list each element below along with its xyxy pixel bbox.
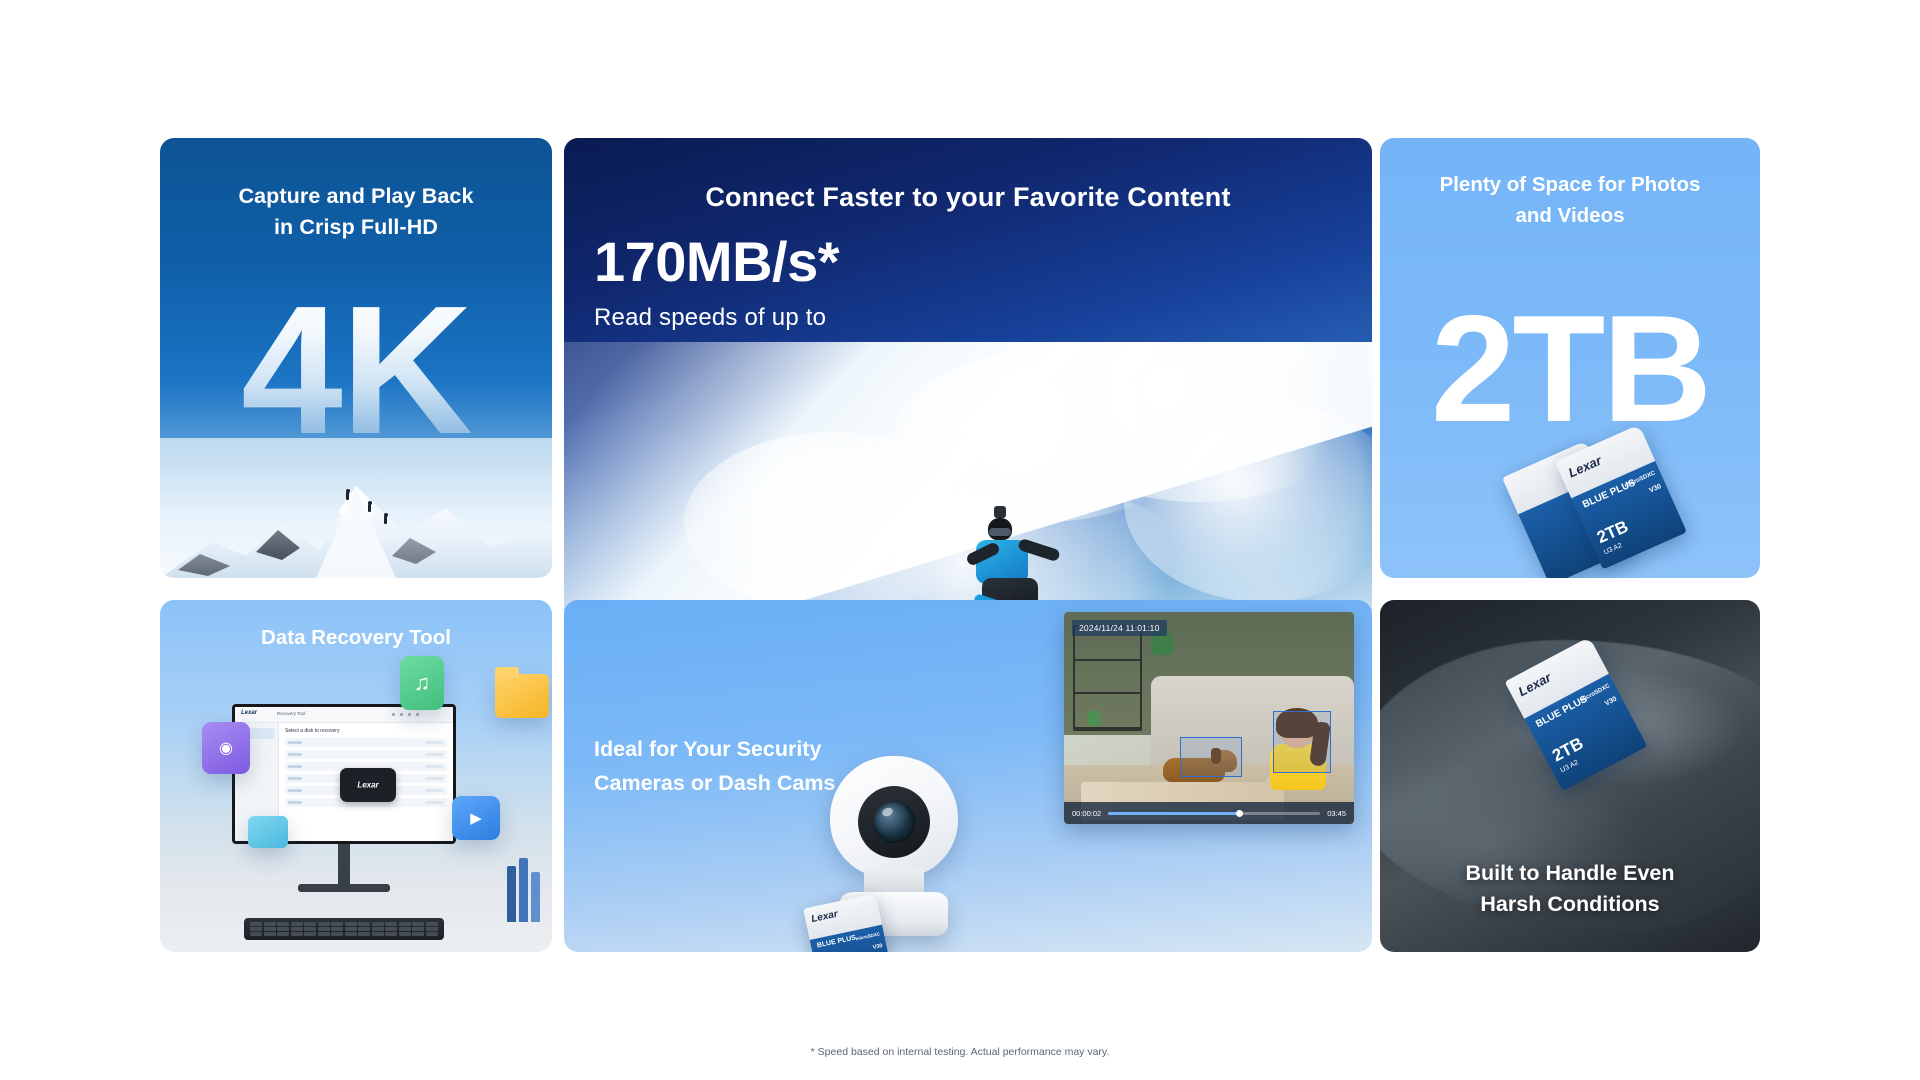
app-name-label: Recovery Tool bbox=[277, 711, 305, 716]
card-security-headline-line1: Ideal for Your Security bbox=[594, 732, 835, 766]
feed-timestamp: 2024/11/24 11:01:10 bbox=[1072, 620, 1167, 636]
card-harsh-conditions[interactable]: Lexar BLUE PLUS 2TB U3 A2 microSDXC V30 … bbox=[1380, 600, 1760, 952]
app-heading: Select a disk to recovery bbox=[285, 728, 447, 734]
image-file-icon: ◉ bbox=[202, 722, 250, 774]
mountain-illustration bbox=[160, 438, 552, 578]
card-4k-headline-line1: Capture and Play Back bbox=[160, 181, 552, 212]
card-security-headline-line2: Cameras or Dash Cams bbox=[594, 766, 835, 800]
card-harsh-headline-line1: Built to Handle Even bbox=[1380, 858, 1760, 889]
card-4k-capture[interactable]: Capture and Play Back in Crisp Full-HD 4… bbox=[160, 138, 552, 578]
card-4k-headline-line2: in Crisp Full-HD bbox=[160, 212, 552, 243]
document-file-icon bbox=[248, 816, 288, 848]
keyboard bbox=[244, 918, 444, 940]
card-data-recovery[interactable]: Data Recovery Tool Lexar Recovery Tool S… bbox=[160, 600, 552, 952]
monitor-stand bbox=[338, 844, 350, 886]
hero-speed-caption: Read speeds of up to bbox=[594, 304, 826, 332]
shelf-unit bbox=[1073, 625, 1143, 731]
disk-row[interactable] bbox=[285, 738, 447, 747]
card-4k-feature-text: 4K bbox=[160, 278, 552, 461]
feed-background bbox=[1064, 612, 1354, 824]
motion-tracking-box bbox=[1273, 711, 1331, 773]
video-file-icon: ▶ bbox=[452, 796, 500, 840]
card-security-headline: Ideal for Your Security Cameras or Dash … bbox=[594, 732, 835, 801]
climber-figure bbox=[346, 492, 349, 500]
camera-video-feed[interactable]: 2024/11/24 11:01:10 00:00:02 03:45 bbox=[1064, 612, 1354, 824]
camera-head bbox=[830, 756, 958, 878]
playback-scrubber[interactable] bbox=[1108, 812, 1320, 815]
camera-lens-icon bbox=[873, 801, 915, 843]
keyboard-keys bbox=[250, 922, 438, 936]
hero-speed-value: 170MB/s* bbox=[594, 234, 839, 290]
card-hero-speed[interactable]: Connect Faster to your Favorite Content … bbox=[564, 138, 1372, 632]
card-recovery-headline: Data Recovery Tool bbox=[160, 600, 552, 650]
climber-figure bbox=[368, 504, 371, 512]
product-feature-page: Capture and Play Back in Crisp Full-HD 4… bbox=[0, 0, 1920, 1080]
folder-icon bbox=[495, 674, 549, 718]
rider-goggles bbox=[989, 528, 1011, 536]
books-decoration bbox=[507, 858, 540, 922]
lexar-chip-badge: Lexar bbox=[340, 768, 396, 802]
camera-lens-ring bbox=[858, 786, 930, 858]
app-brand-label: Lexar bbox=[241, 710, 257, 716]
card-2tb-feature-text: 2TB bbox=[1380, 293, 1760, 445]
hero-title: Connect Faster to your Favorite Content bbox=[564, 182, 1372, 213]
monitor-base bbox=[298, 884, 390, 892]
disk-row[interactable] bbox=[285, 750, 447, 759]
card-2tb-headline-line2: and Videos bbox=[1406, 201, 1734, 232]
feature-card-grid: Capture and Play Back in Crisp Full-HD 4… bbox=[160, 138, 1780, 968]
playback-current-time: 00:00:02 bbox=[1072, 809, 1101, 818]
card-security-camera[interactable]: Ideal for Your Security Cameras or Dash … bbox=[564, 600, 1372, 952]
music-file-icon: ♫ bbox=[400, 656, 444, 710]
app-window-controls[interactable] bbox=[392, 713, 419, 716]
snowboarder-scene bbox=[564, 342, 1372, 632]
footnote-disclaimer: * Speed based on internal testing. Actua… bbox=[0, 1046, 1920, 1058]
card-harsh-headline-line2: Harsh Conditions bbox=[1380, 889, 1760, 920]
card-2tb-capacity[interactable]: Plenty of Space for Photos and Videos 2T… bbox=[1380, 138, 1760, 578]
motion-tracking-box bbox=[1180, 737, 1242, 777]
chip-brand-label: Lexar bbox=[357, 781, 378, 790]
card-4k-headline: Capture and Play Back in Crisp Full-HD bbox=[160, 138, 552, 243]
playback-bar[interactable]: 00:00:02 03:45 bbox=[1064, 802, 1354, 824]
action-camera-icon bbox=[994, 506, 1006, 518]
mountain-peaks-icon bbox=[160, 438, 552, 578]
plant-icon bbox=[1087, 710, 1101, 726]
climber-figure bbox=[384, 516, 387, 524]
playback-total-time: 03:45 bbox=[1327, 809, 1346, 818]
card-2tb-headline: Plenty of Space for Photos and Videos bbox=[1380, 138, 1760, 232]
card-2tb-headline-line1: Plenty of Space for Photos bbox=[1406, 170, 1734, 201]
card-harsh-headline: Built to Handle Even Harsh Conditions bbox=[1380, 858, 1760, 920]
